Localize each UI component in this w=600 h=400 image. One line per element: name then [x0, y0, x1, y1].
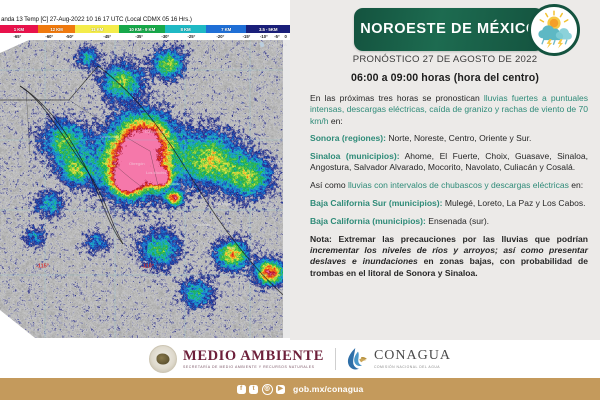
- semarnat-logo: MEDIO AMBIENTE SECRETARÍA DE MEDIO AMBIE…: [149, 345, 324, 373]
- colorbar-tick: -65°: [14, 33, 22, 40]
- water-drop-icon: [260, 41, 265, 47]
- temperature-colorbar: 1 KM12 KM11 KM10 KM - 9 KM8 KM7 KM3.5 - …: [0, 25, 290, 33]
- colorbar-segment: 11 KM: [75, 25, 119, 33]
- colorbar-tick: -20°: [217, 33, 225, 40]
- forecast-panel: NOROESTE DE MÉXICO: [290, 0, 600, 340]
- colorbar-tick: -5°: [274, 33, 279, 40]
- footer-logos: MEDIO AMBIENTE SECRETARÍA DE MEDIO AMBIE…: [0, 340, 600, 378]
- region-bcs-label: Baja California Sur (municipios):: [310, 198, 443, 208]
- forecast-body: En las próximas tres horas se pronostica…: [310, 93, 588, 279]
- intro-pre: En las próximas tres horas se pronostica…: [310, 93, 484, 103]
- mexico-eagle-seal-icon: [149, 345, 177, 373]
- page-title: NOROESTE DE MÉXICO: [360, 22, 538, 38]
- region-sonora-value: Norte, Noreste, Centro, Oriente y Sur.: [386, 133, 531, 143]
- conagua-water-drop-icon: [347, 347, 369, 371]
- semarnat-title: MEDIO AMBIENTE: [183, 349, 324, 364]
- colorbar-tick-labels: -65°-60°-50°-45°-35°-30°-25°-20°-15°-10°…: [0, 33, 290, 40]
- region-sinaloa: Sinaloa (municipios): Ahome, El Fuerte, …: [310, 151, 588, 174]
- colorbar-tick: -30°: [161, 33, 169, 40]
- secondary-post: en:: [569, 180, 583, 190]
- colorbar-segment: 7 KM: [206, 25, 247, 33]
- youtube-icon[interactable]: ▶: [276, 385, 285, 394]
- intro-paragraph: En las próximas tres horas se pronostica…: [310, 93, 588, 127]
- note-part1: Extremar las precauciones por las lluvia…: [332, 234, 588, 244]
- watermark-label: CONAGUA: [265, 42, 287, 47]
- footer-divider: [335, 348, 336, 370]
- region-sinaloa-label: Sinaloa (municipios):: [310, 151, 400, 161]
- region-bc: Baja California (municipios): Ensenada (…: [310, 216, 588, 227]
- twitter-icon[interactable]: t: [249, 385, 258, 394]
- colorbar-tick: -35°: [135, 33, 143, 40]
- instagram-icon[interactable]: ◎: [262, 384, 273, 395]
- region-sonora-label: Sonora (regiones):: [310, 133, 386, 143]
- colorbar-tick: -15°: [243, 33, 251, 40]
- conagua-title: CONAGUA: [374, 349, 451, 363]
- intro-post: en:: [329, 116, 343, 126]
- colorbar-tick: -25°: [188, 33, 196, 40]
- secondary-highlight: lluvias con intervalos de chubascos y de…: [348, 180, 569, 190]
- region-bcs-value: Mulegé, Loreto, La Paz y Los Cabos.: [443, 198, 586, 208]
- satellite-image: CONAGUA: [0, 40, 290, 338]
- colorbar-segment: 1 KM: [0, 25, 38, 33]
- region-sonora: Sonora (regiones): Norte, Noreste, Centr…: [310, 133, 588, 144]
- sun-cloud-lightning-icon: [528, 4, 580, 56]
- conagua-subtitle: COMISIÓN NACIONAL DEL AGUA: [374, 366, 451, 369]
- colorbar-segment: 3.5 - 5KM: [246, 25, 290, 33]
- satellite-header-text: anda 13 Temp [C] 27-Aug-2022 10 16 17 UT…: [1, 14, 290, 25]
- colorbar-tick: -60°: [45, 33, 53, 40]
- colorbar-segment: 12 KM: [38, 25, 76, 33]
- region-bcs: Baja California Sur (municipios): Mulegé…: [310, 198, 588, 209]
- semarnat-subtitle: SECRETARÍA DE MEDIO AMBIENTE Y RECURSOS …: [183, 366, 324, 370]
- colorbar-tick: -45°: [103, 33, 111, 40]
- colorbar-segment: 10 KM - 9 KM: [119, 25, 165, 33]
- conagua-logo: CONAGUA COMISIÓN NACIONAL DEL AGUA: [347, 347, 451, 371]
- forecast-hours: 06:00 a 09:00 horas (hora del centro): [290, 72, 600, 84]
- note-paragraph: Nota: Extremar las precauciones por las …: [310, 234, 588, 279]
- title-banner: NOROESTE DE MÉXICO: [354, 8, 544, 51]
- infographic-root: anda 13 Temp [C] 27-Aug-2022 10 16 17 UT…: [0, 0, 600, 400]
- region-bc-value: Ensenada (sur).: [426, 216, 489, 226]
- forecast-date: PRONÓSTICO 27 DE AGOSTO DE 2022: [290, 54, 600, 65]
- region-bc-label: Baja California (municipios):: [310, 216, 426, 226]
- colorbar-tick: 0: [284, 33, 286, 40]
- conagua-url[interactable]: gob.mx/conagua: [293, 384, 363, 394]
- colorbar-tick: -50°: [66, 33, 74, 40]
- secondary-pre: Así como: [310, 180, 348, 190]
- colorbar-tick: -10°: [260, 33, 268, 40]
- colorbar-segment: 8 KM: [165, 25, 206, 33]
- facebook-icon[interactable]: f: [237, 385, 246, 394]
- secondary-paragraph: Así como lluvias con intervalos de chuba…: [310, 180, 588, 191]
- satellite-panel: anda 13 Temp [C] 27-Aug-2022 10 16 17 UT…: [0, 0, 290, 340]
- conagua-watermark: CONAGUA: [260, 42, 287, 47]
- note-label: Nota:: [310, 234, 332, 244]
- social-bar: f t ◎ ▶ gob.mx/conagua: [0, 378, 600, 400]
